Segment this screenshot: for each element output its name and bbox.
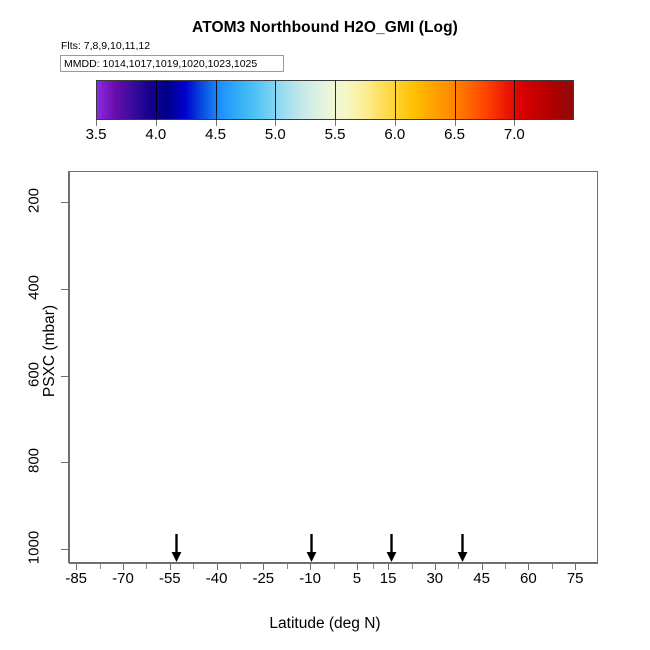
y-axis-tick-label: 200 — [26, 181, 43, 221]
x-axis-tick-label: -25 — [252, 570, 274, 587]
x-axis-title: Latitude (deg N) — [0, 615, 650, 633]
y-axis-tick — [61, 289, 68, 290]
y-axis-title: PSXC (mbar) — [41, 271, 59, 431]
y-axis-tick-label: 400 — [26, 268, 43, 308]
y-axis-tick-label: 600 — [26, 354, 43, 394]
mmdd-label: MMDD: 1014,1017,1019,1020,1023,1025 — [64, 58, 257, 70]
colorbar-separator — [395, 80, 396, 122]
x-axis-tick-label: -85 — [65, 570, 87, 587]
x-axis-tick-label: 60 — [520, 570, 537, 587]
colorbar-separator — [455, 80, 456, 122]
y-axis-tick — [61, 376, 68, 377]
colorbar-tick-label: 7.0 — [504, 126, 525, 143]
y-axis-tick — [61, 462, 68, 463]
x-axis-tick-label: 75 — [567, 570, 584, 587]
colorbar-separator — [216, 80, 217, 122]
x-axis-minor-tick — [240, 564, 241, 569]
x-axis-tick-label: 30 — [426, 570, 443, 587]
plot-page: ATOM3 Northbound H2O_GMI (Log) Flts: 7,8… — [0, 0, 650, 650]
profile-marker-arrow — [456, 534, 469, 562]
profile-marker-arrow — [170, 534, 183, 562]
x-axis-tick-label: 45 — [473, 570, 490, 587]
x-axis-minor-tick — [552, 564, 553, 569]
colorbar-tick-label: 4.5 — [205, 126, 226, 143]
x-axis-minor-tick — [505, 564, 506, 569]
y-axis-tick-label: 800 — [26, 441, 43, 481]
colorbar-separator — [514, 80, 515, 122]
colorbar-tick-label: 6.5 — [444, 126, 465, 143]
x-axis-tick-label: 15 — [380, 570, 397, 587]
colorbar: 3.54.04.55.05.56.06.57.0 — [96, 80, 574, 122]
x-axis-tick-label: -70 — [112, 570, 134, 587]
y-axis-tick-label: 1000 — [26, 528, 43, 568]
y-axis-tick — [61, 549, 68, 550]
colorbar-tick-label: 4.0 — [145, 126, 166, 143]
x-axis-minor-tick — [146, 564, 147, 569]
profile-marker-arrow — [385, 534, 398, 562]
colorbar-separator — [275, 80, 276, 122]
plot-frame — [69, 171, 598, 563]
colorbar-separator — [156, 80, 157, 122]
x-axis-minor-tick — [287, 564, 288, 569]
colorbar-tick-label: 5.5 — [325, 126, 346, 143]
x-axis-tick-label: -40 — [206, 570, 228, 587]
x-axis-tick-label: 5 — [353, 570, 361, 587]
colorbar-tick-label: 5.0 — [265, 126, 286, 143]
flights-label: Flts: 7,8,9,10,11,12 — [61, 40, 150, 52]
x-axis-minor-tick — [412, 564, 413, 569]
y-axis-tick — [61, 202, 68, 203]
profile-marker-arrow — [305, 534, 318, 562]
colorbar-tick-label: 3.5 — [86, 126, 107, 143]
colorbar-separator — [335, 80, 336, 122]
colorbar-tick-label: 6.0 — [384, 126, 405, 143]
x-axis-minor-tick — [100, 564, 101, 569]
x-axis-tick-label: -10 — [299, 570, 321, 587]
x-axis-minor-tick — [193, 564, 194, 569]
x-axis-minor-tick — [458, 564, 459, 569]
x-axis-minor-tick — [373, 564, 374, 569]
page-title: ATOM3 Northbound H2O_GMI (Log) — [0, 19, 650, 37]
x-axis-tick-label: -55 — [159, 570, 181, 587]
x-axis-minor-tick — [334, 564, 335, 569]
